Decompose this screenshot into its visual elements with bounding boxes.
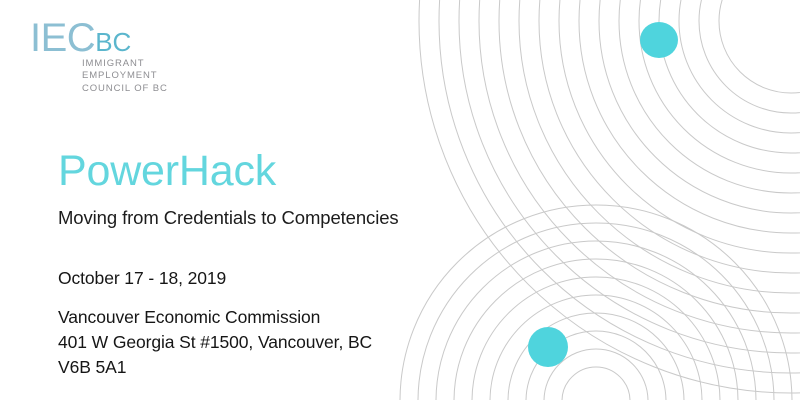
top-right-ring-12 <box>499 0 800 313</box>
logo-tagline-line-3: COUNCIL OF BC <box>82 83 250 96</box>
event-address-line-1: 401 W Georgia St #1500, Vancouver, BC <box>58 330 528 355</box>
bottom-right-ring-2 <box>544 349 648 400</box>
logo-secondary-text: BC <box>95 27 131 57</box>
event-details: October 17 - 18, 2019 Vancouver Economic… <box>58 266 528 381</box>
event-date: October 17 - 18, 2019 <box>58 266 528 291</box>
top-right-ring-3 <box>679 0 800 133</box>
top-right-ring-8 <box>579 0 800 233</box>
top-right-ring-10 <box>539 0 800 273</box>
banner-content: PowerHack Moving from Credentials to Com… <box>58 150 528 381</box>
logo-primary-text: IEC <box>30 16 95 60</box>
logo-wordmark: IECBC <box>30 20 250 57</box>
event-venue: Vancouver Economic Commission <box>58 305 528 330</box>
bottom-right-ring-4 <box>508 313 684 400</box>
event-subtitle: Moving from Credentials to Competencies <box>58 207 528 229</box>
event-banner: IECBC IMMIGRANT EMPLOYMENT COUNCIL OF BC… <box>0 0 800 400</box>
top-right-ring-6 <box>619 0 800 193</box>
accent-dot-top-right <box>640 22 678 58</box>
bottom-right-ring-3 <box>526 331 666 400</box>
top-right-ring-1 <box>719 0 800 93</box>
logo-tagline-line-2: EMPLOYMENT <box>82 70 250 83</box>
top-right-ring-2 <box>699 0 800 113</box>
event-title: PowerHack <box>58 150 528 193</box>
top-right-ring-5 <box>639 0 800 173</box>
top-right-ring-7 <box>599 0 800 213</box>
accent-dot-bottom-right <box>528 327 568 367</box>
bottom-right-ring-1 <box>562 367 630 400</box>
logo-tagline: IMMIGRANT EMPLOYMENT COUNCIL OF BC <box>82 58 250 96</box>
top-right-ring-9 <box>559 0 800 253</box>
top-right-ring-11 <box>519 0 800 293</box>
top-right-ring-4 <box>659 0 800 153</box>
logo-tagline-line-1: IMMIGRANT <box>82 58 250 71</box>
event-address-line-2: V6B 5A1 <box>58 355 528 380</box>
iecbc-logo: IECBC IMMIGRANT EMPLOYMENT COUNCIL OF BC <box>30 20 250 96</box>
